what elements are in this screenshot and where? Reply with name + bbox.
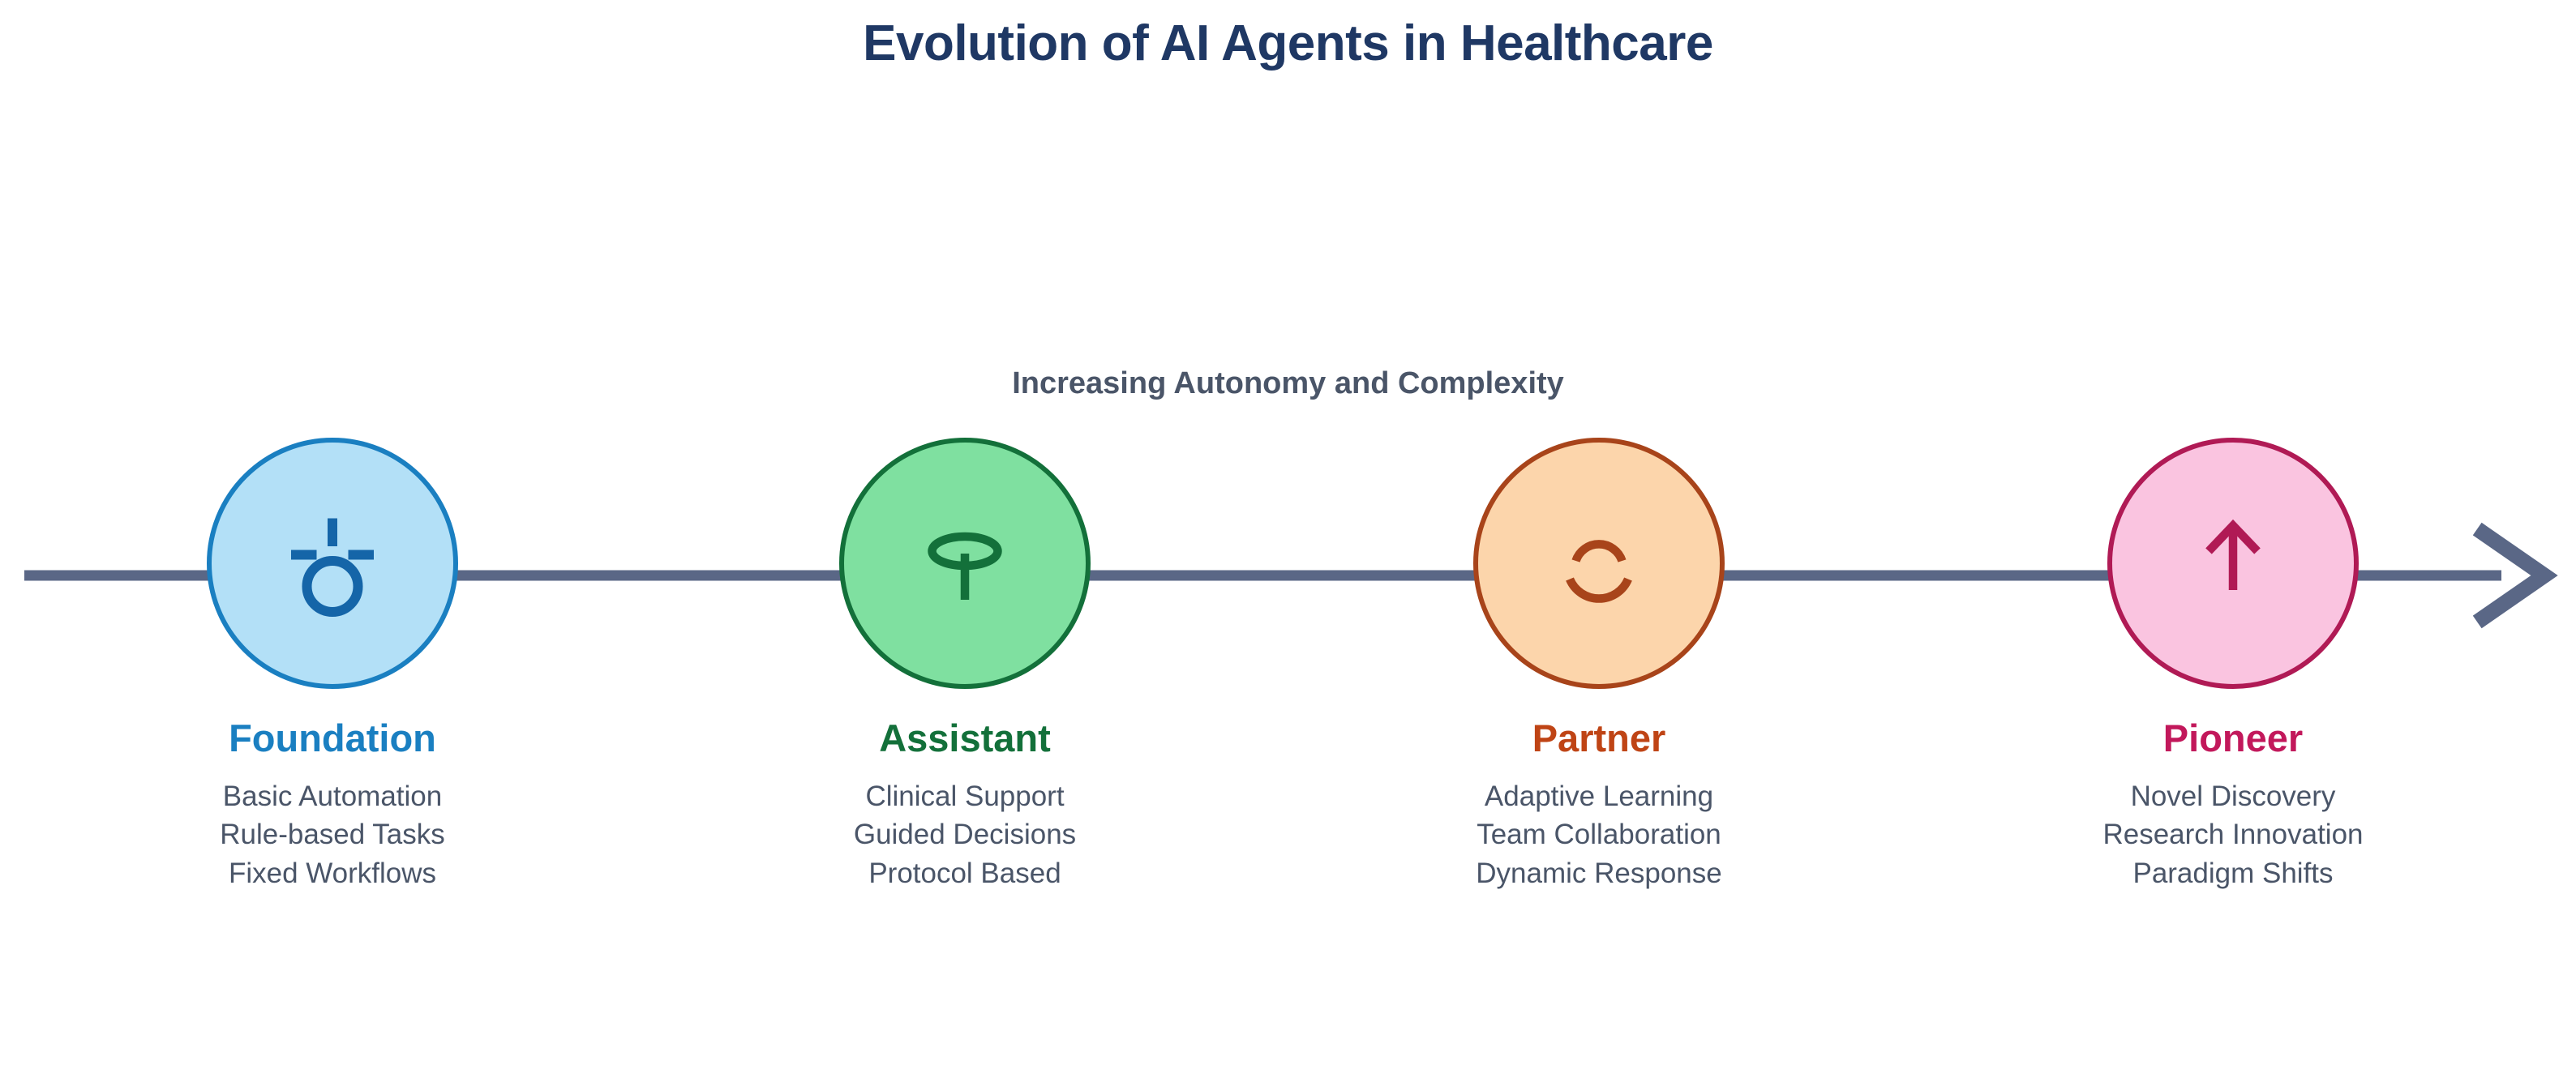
stage-detail-item: Guided Decisions [738, 815, 1192, 854]
stethoscope-icon [904, 503, 1026, 624]
stage-detail-item: Fixed Workflows [105, 854, 559, 893]
timeline-stage-foundation[interactable]: Foundation Basic Automation Rule-based T… [105, 438, 559, 892]
stage-details-pioneer: Novel Discovery Research Innovation Para… [2006, 777, 2460, 893]
stage-detail-item: Clinical Support [738, 777, 1192, 816]
stage-detail-item: Research Innovation [2006, 815, 2460, 854]
stage-detail-item: Novel Discovery [2006, 777, 2460, 816]
stage-label-assistant: Assistant [738, 718, 1192, 759]
stage-details-foundation: Basic Automation Rule-based Tasks Fixed … [105, 777, 559, 893]
stage-bubble-partner[interactable] [1473, 438, 1725, 689]
stage-details-partner: Adaptive Learning Team Collaboration Dyn… [1372, 777, 1826, 893]
timeline-stage-pioneer[interactable]: Pioneer Novel Discovery Research Innovat… [2006, 438, 2460, 892]
stage-detail-item: Paradigm Shifts [2006, 854, 2460, 893]
stage-label-pioneer: Pioneer [2006, 718, 2460, 759]
stage-detail-item: Team Collaboration [1372, 815, 1826, 854]
axis-caption: Increasing Autonomy and Complexity [0, 366, 2576, 401]
timeline-stage-assistant[interactable]: Assistant Clinical Support Guided Decisi… [738, 438, 1192, 892]
stage-detail-item: Rule-based Tasks [105, 815, 559, 854]
arrow-right-icon [2484, 533, 2544, 618]
stage-detail-item: Adaptive Learning [1372, 777, 1826, 816]
stage-detail-item: Protocol Based [738, 854, 1192, 893]
timeline-stage-partner[interactable]: Partner Adaptive Learning Team Collabora… [1372, 438, 1826, 892]
stage-detail-item: Dynamic Response [1372, 854, 1826, 893]
stage-bubble-foundation[interactable] [207, 438, 458, 689]
stage-label-partner: Partner [1372, 718, 1826, 759]
stage-bubble-assistant[interactable] [839, 438, 1091, 689]
stage-details-assistant: Clinical Support Guided Decisions Protoc… [738, 777, 1192, 893]
arrow-up-icon [2172, 503, 2294, 624]
stage-bubble-pioneer[interactable] [2107, 438, 2359, 689]
stage-label-foundation: Foundation [105, 718, 559, 759]
robot-head-icon [272, 503, 393, 624]
page-title: Evolution of AI Agents in Healthcare [0, 15, 2576, 72]
handshake-arcs-icon [1538, 503, 1660, 624]
infographic-canvas: Evolution of AI Agents in Healthcare Inc… [0, 0, 2576, 1065]
stage-detail-item: Basic Automation [105, 777, 559, 816]
